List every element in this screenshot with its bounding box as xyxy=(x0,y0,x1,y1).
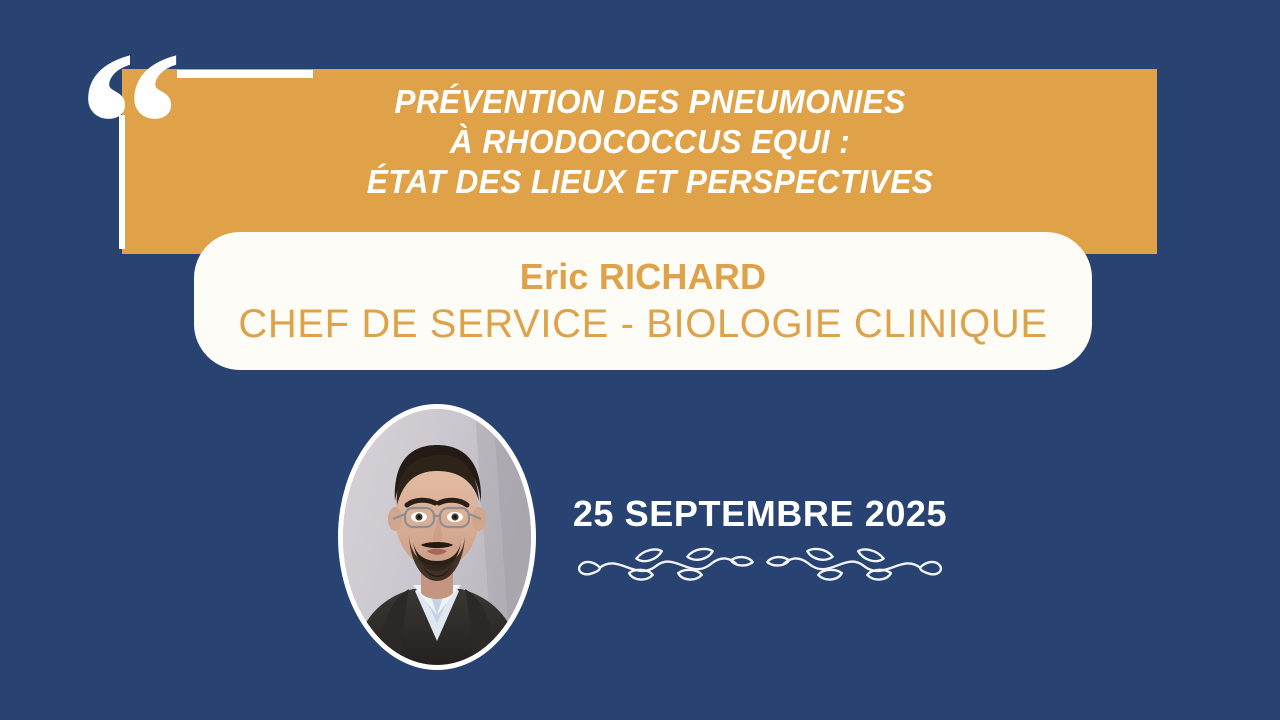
speaker-card: Eric RICHARD CHEF DE SERVICE - BIOLOGIE … xyxy=(194,232,1092,370)
speaker-name: Eric RICHARD xyxy=(520,256,766,298)
title-line-2: À RHODOCOCCUS EQUI : xyxy=(208,122,1091,162)
title-line-1: PRÉVENTION DES PNEUMONIES xyxy=(208,82,1091,122)
speaker-role: CHEF DE SERVICE - BIOLOGIE CLINIQUE xyxy=(238,300,1047,348)
page-title: PRÉVENTION DES PNEUMONIES À RHODOCOCCUS … xyxy=(208,82,1091,202)
quotation-mark-icon: “ xyxy=(78,20,208,140)
event-date: 25 SEPTEMBRE 2025 xyxy=(520,492,1000,536)
avatar xyxy=(338,404,536,670)
leaf-flourish-divider xyxy=(520,544,1000,584)
portrait-photo xyxy=(343,409,531,665)
title-line-3: ÉTAT DES LIEUX ET PERSPECTIVES xyxy=(208,162,1091,202)
title-slide: “ PRÉVENTION DES PNEUMONIES À RHODOCOCCU… xyxy=(0,0,1280,720)
event-date-block: 25 SEPTEMBRE 2025 xyxy=(520,492,1000,584)
